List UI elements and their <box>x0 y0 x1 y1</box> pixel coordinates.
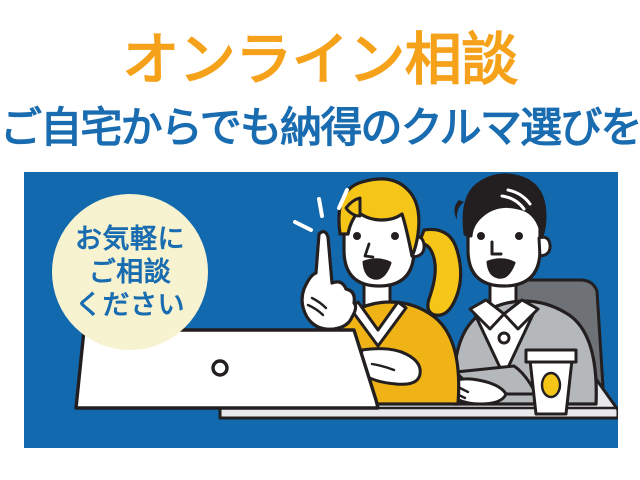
status-badge: お気軽に ご相談 ください <box>52 194 208 350</box>
coffee-cup-icon <box>526 350 576 414</box>
badge-line-1: お気軽に <box>75 223 185 256</box>
online-consultation-banner: オンライン相談 ご自宅からでも納得のクルマ選びを <box>0 0 640 480</box>
badge-line-3: ください <box>75 289 185 322</box>
headline-area: オンライン相談 ご自宅からでも納得のクルマ選びを <box>0 0 640 168</box>
badge-line-2: ご相談 <box>89 256 172 289</box>
illustration-panel: お気軽に ご相談 ください <box>24 172 618 448</box>
page-subtitle: ご自宅からでも納得のクルマ選びを <box>0 104 640 152</box>
page-title: オンライン相談 <box>0 30 640 90</box>
